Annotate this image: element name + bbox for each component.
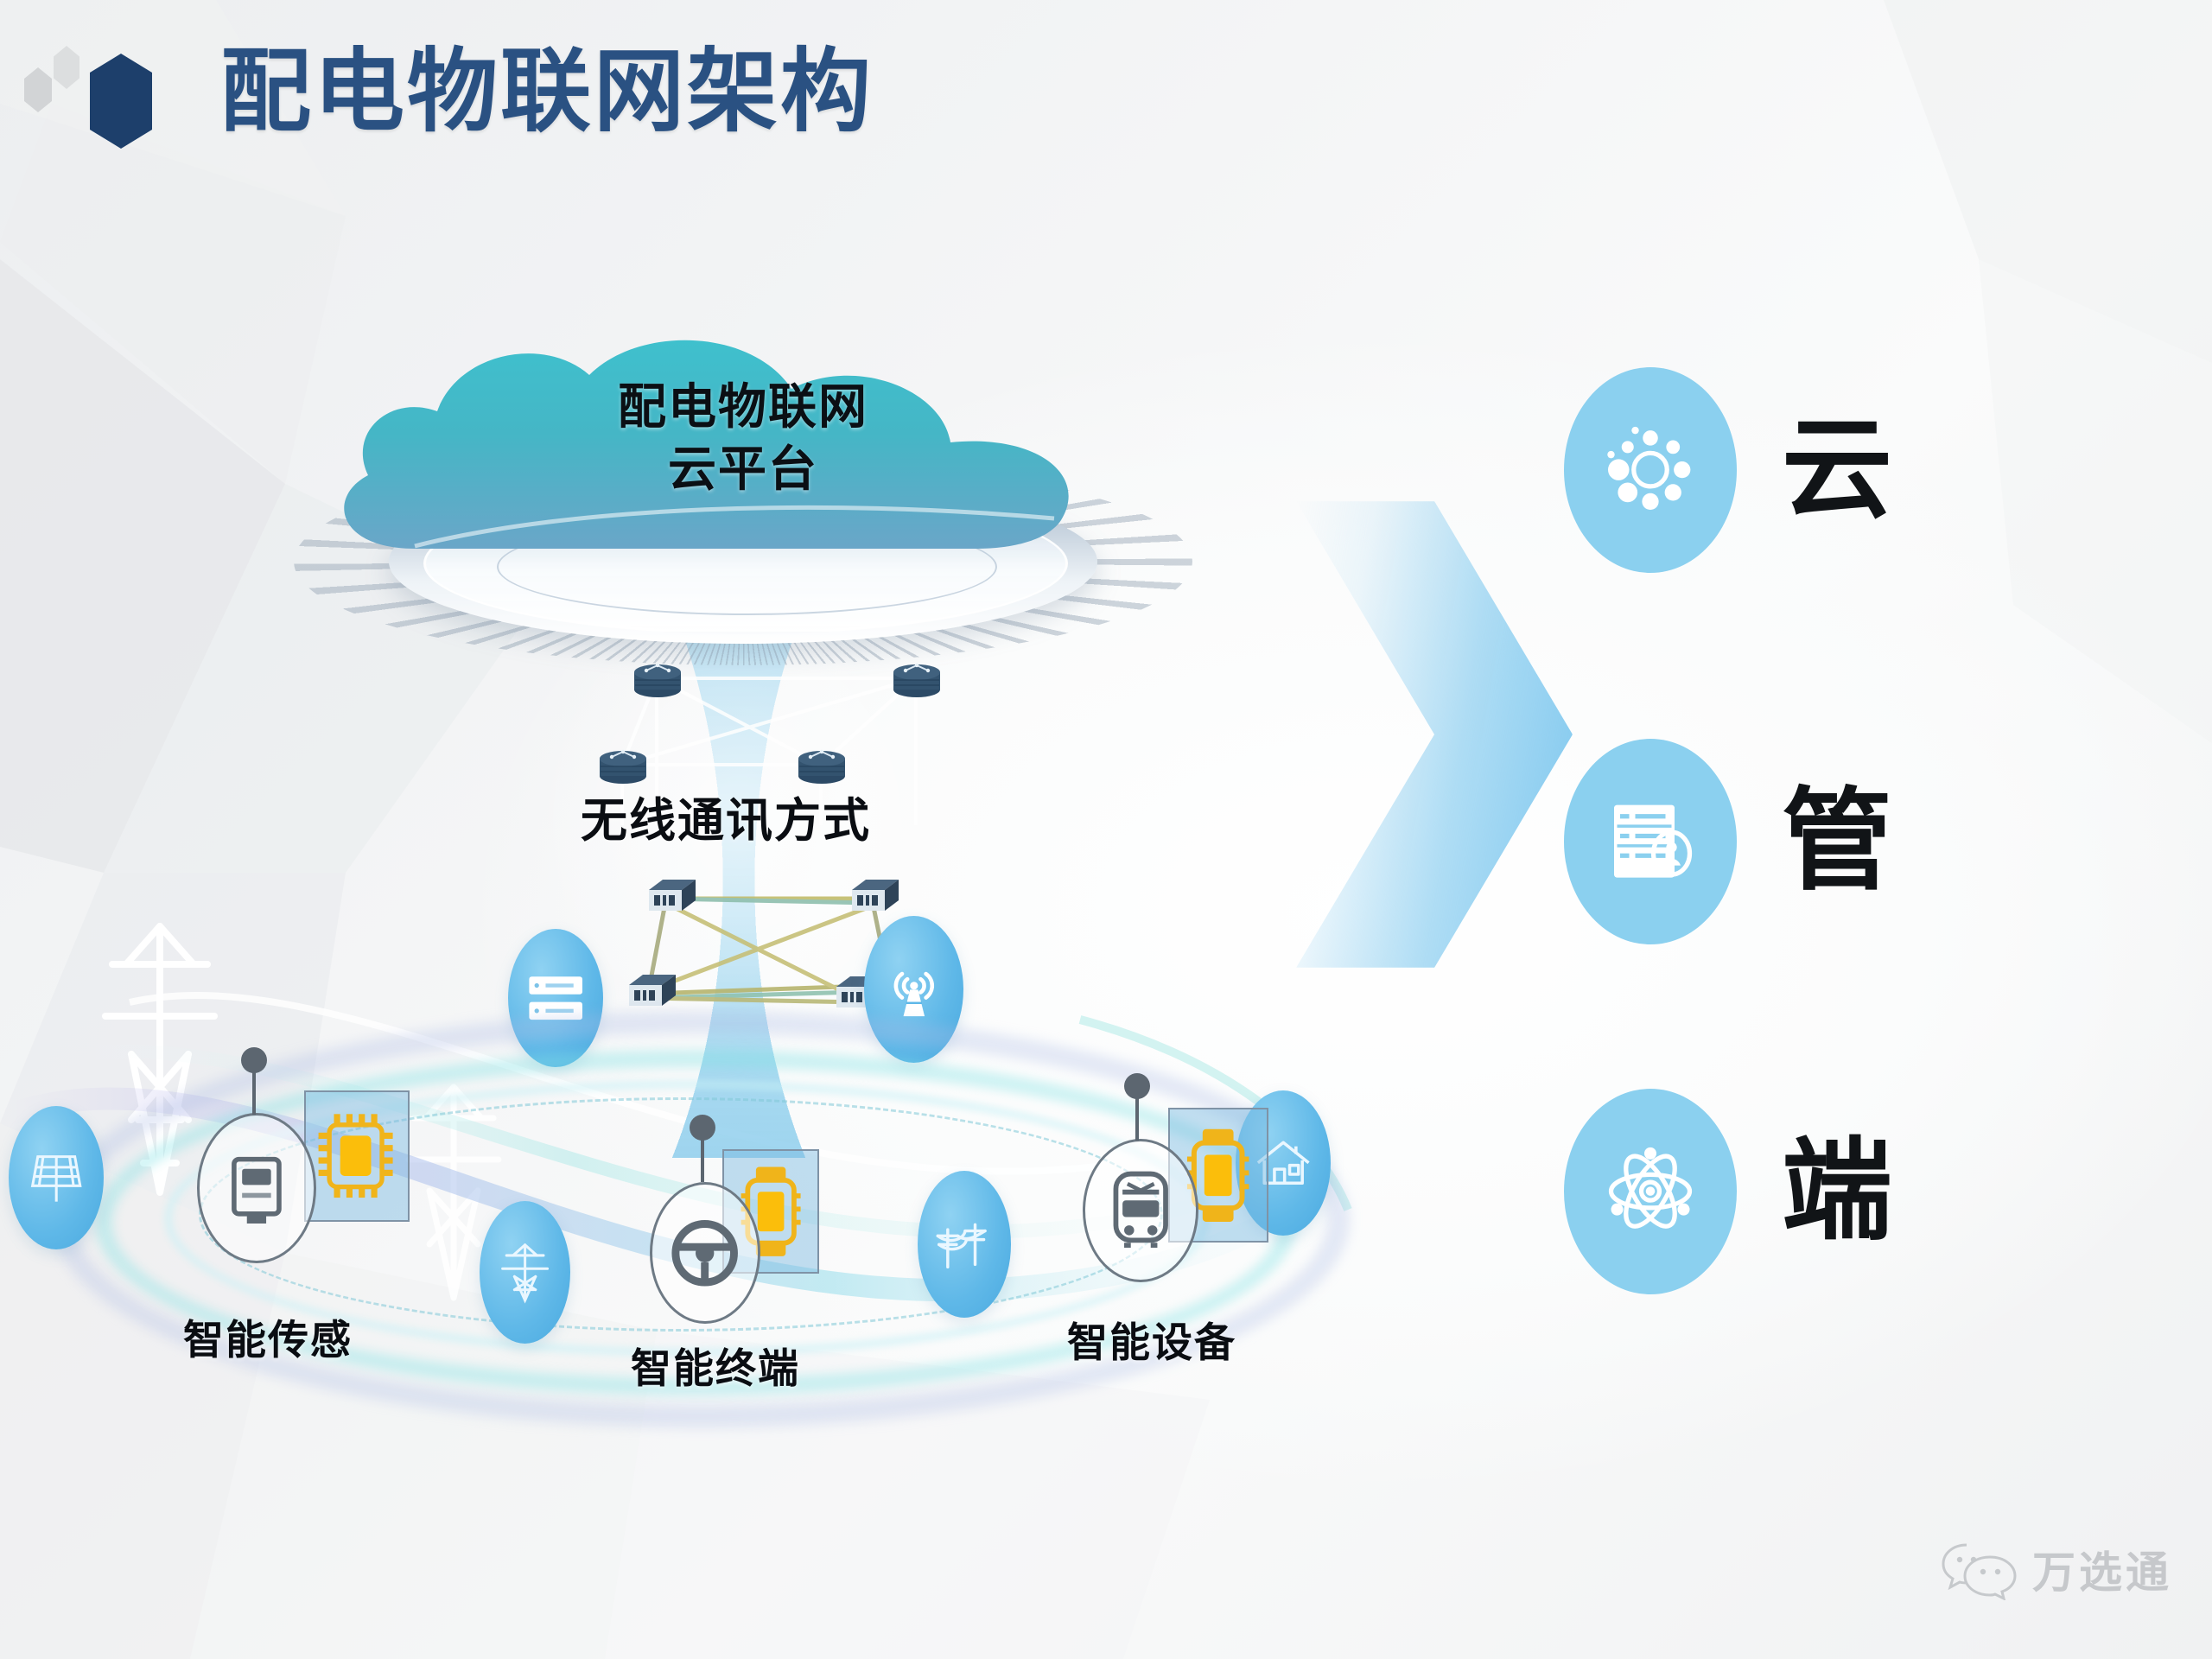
wechat-icon: [1941, 1538, 2018, 1600]
flow-arrow: [1296, 501, 1573, 968]
slide-canvas: 配电物联网架构 配电物联网 云平台: [0, 0, 2212, 1659]
watermark: 万选通: [1941, 1538, 2172, 1600]
watermark-text: 万选通: [2032, 1538, 2172, 1600]
switch-icon: [644, 873, 699, 918]
hexagon-logo-icon: [90, 54, 152, 149]
cpu-chip-icon: [315, 1103, 399, 1208]
power-line-icon: [934, 1198, 994, 1292]
device-circle-sensor: [197, 1113, 316, 1263]
router-icon: [631, 657, 684, 700]
hexagon-accent-medium-icon: [54, 46, 79, 89]
tier-pipe[interactable]: 管: [1564, 739, 1894, 944]
tier-cloud[interactable]: 云: [1564, 367, 1894, 573]
device-pin-3: [1124, 1073, 1150, 1099]
electric-tower-icon: [496, 1227, 554, 1319]
ground-label-2: 智能终端: [631, 1335, 800, 1395]
ground-label-3: 智能设备: [1067, 1309, 1236, 1369]
router-icon: [795, 743, 849, 786]
chip-card-1: [304, 1090, 410, 1222]
tier-cloud-label: 云: [1782, 415, 1894, 525]
device-pin-1: [241, 1047, 267, 1073]
pod-power-line: [918, 1171, 1011, 1318]
sensor-meter-icon: [221, 1143, 292, 1233]
cloud-shape-icon: [285, 337, 1201, 562]
tier-pipe-ellipse: [1564, 739, 1737, 944]
device-pin-2: [690, 1115, 715, 1141]
ground-label-1: 智能传感: [183, 1306, 353, 1366]
atom-icon: [1602, 1134, 1699, 1249]
metro-train-icon: [1104, 1165, 1177, 1256]
router-icon: [890, 657, 944, 700]
router-icon: [596, 743, 650, 786]
switch-icon: [847, 873, 902, 918]
cloud-network-dots-icon: [1602, 412, 1699, 527]
steering-terminal-icon: [668, 1205, 741, 1301]
page-title: 配电物联网架构: [220, 41, 874, 143]
tier-edge-ellipse: [1564, 1089, 1737, 1294]
solar-panel-icon: [26, 1132, 86, 1224]
tier-edge-label: 端: [1782, 1136, 1894, 1247]
device-circle-terminal: [650, 1182, 760, 1324]
wireless-communication-label: 无线通讯方式: [518, 782, 933, 850]
hexagon-accent-small-icon: [24, 67, 52, 112]
server-pipe-icon: [1602, 784, 1699, 899]
pod-solar-panel: [9, 1106, 104, 1249]
device-circle-equipment: [1083, 1139, 1198, 1282]
switch-icon: [624, 968, 679, 1013]
tier-pipe-label: 管: [1782, 786, 1894, 897]
cloud-platform: 配电物联网 云平台: [285, 337, 1201, 665]
pod-electric-tower: [480, 1201, 570, 1344]
tier-cloud-ellipse: [1564, 367, 1737, 573]
tier-edge[interactable]: 端: [1564, 1089, 1894, 1294]
slide-header: 配电物联网架构: [0, 0, 2212, 216]
